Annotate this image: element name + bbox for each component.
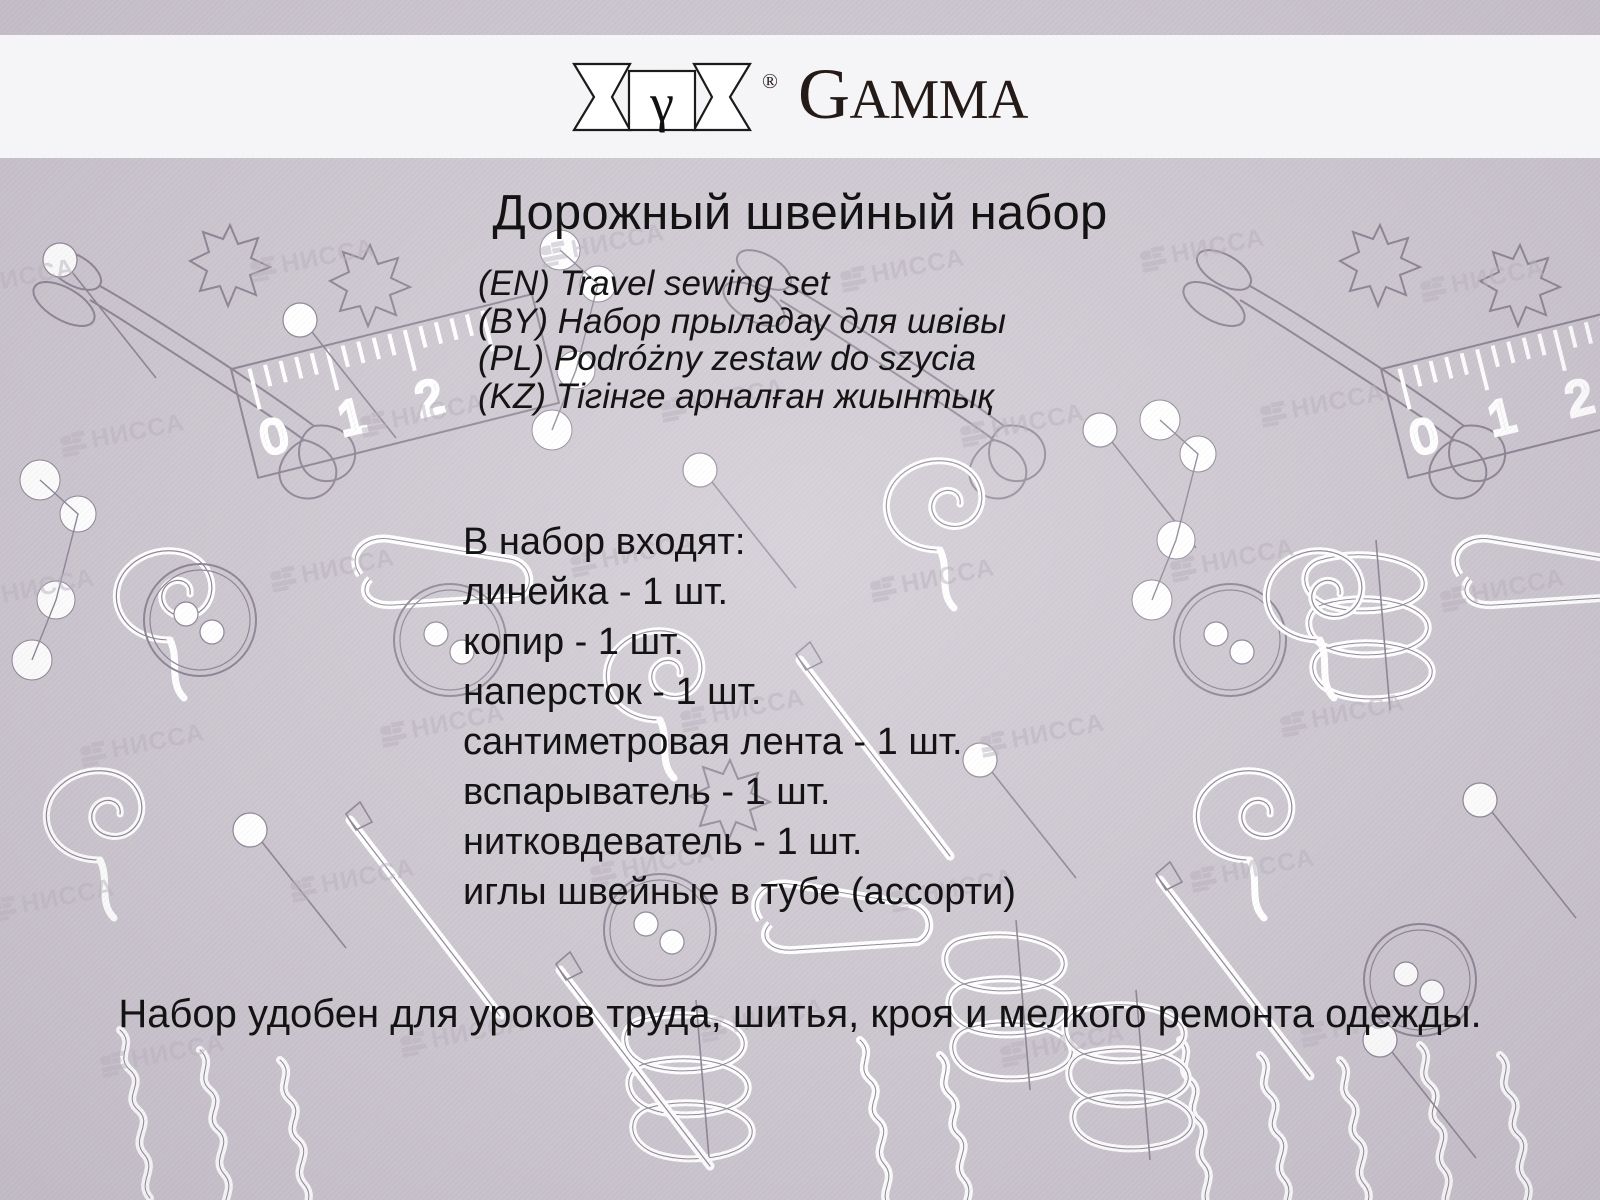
language-code-by: (BY) bbox=[478, 302, 548, 341]
kit-item: сантиметровая лента - 1 шт. bbox=[463, 717, 1363, 767]
kit-item: линейка - 1 шт. bbox=[463, 567, 1363, 617]
language-code-en: (EN) bbox=[478, 264, 550, 303]
language-text-by: Набор прыладау для швівы bbox=[558, 302, 1006, 341]
kit-item: иглы швейные в тубе (ассорти) bbox=[463, 867, 1363, 917]
kit-item: нитковдеватель - 1 шт. bbox=[463, 817, 1363, 867]
language-line-by: (BY) Набор прыладау для швівы bbox=[478, 303, 1378, 341]
language-line-pl: (PL) Podróżny zestaw do szycia bbox=[478, 340, 1378, 378]
usage-tagline: Набор удобен для уроков труда, шитья, кр… bbox=[0, 990, 1600, 1038]
kit-item: копир - 1 шт. bbox=[463, 617, 1363, 667]
kit-item: наперсток - 1 шт. bbox=[463, 667, 1363, 717]
language-text-kz: Тігінге арналған жиынтық bbox=[556, 377, 994, 416]
label-content: Дорожный швейный набор (EN) Travel sewin… bbox=[0, 0, 1600, 1200]
kit-item: вспарыватель - 1 шт. bbox=[463, 767, 1363, 817]
language-code-kz: (KZ) bbox=[478, 377, 546, 416]
language-text-en: Travel sewing set bbox=[560, 264, 830, 303]
language-text-pl: Podróżny zestaw do szycia bbox=[554, 339, 976, 378]
language-line-kz: (KZ) Тігінге арналған жиынтық bbox=[478, 378, 1378, 416]
language-code-pl: (PL) bbox=[478, 339, 544, 378]
product-label-page: 0 1 2 bbox=[0, 0, 1600, 1200]
kit-contents-heading: В набор входят: bbox=[463, 517, 1363, 567]
page-title: Дорожный швейный набор bbox=[0, 185, 1600, 241]
language-translations: (EN) Travel sewing set (BY) Набор прылад… bbox=[478, 265, 1378, 415]
kit-contents-block: В набор входят: линейка - 1 шт. копир - … bbox=[463, 517, 1363, 917]
language-line-en: (EN) Travel sewing set bbox=[478, 265, 1378, 303]
